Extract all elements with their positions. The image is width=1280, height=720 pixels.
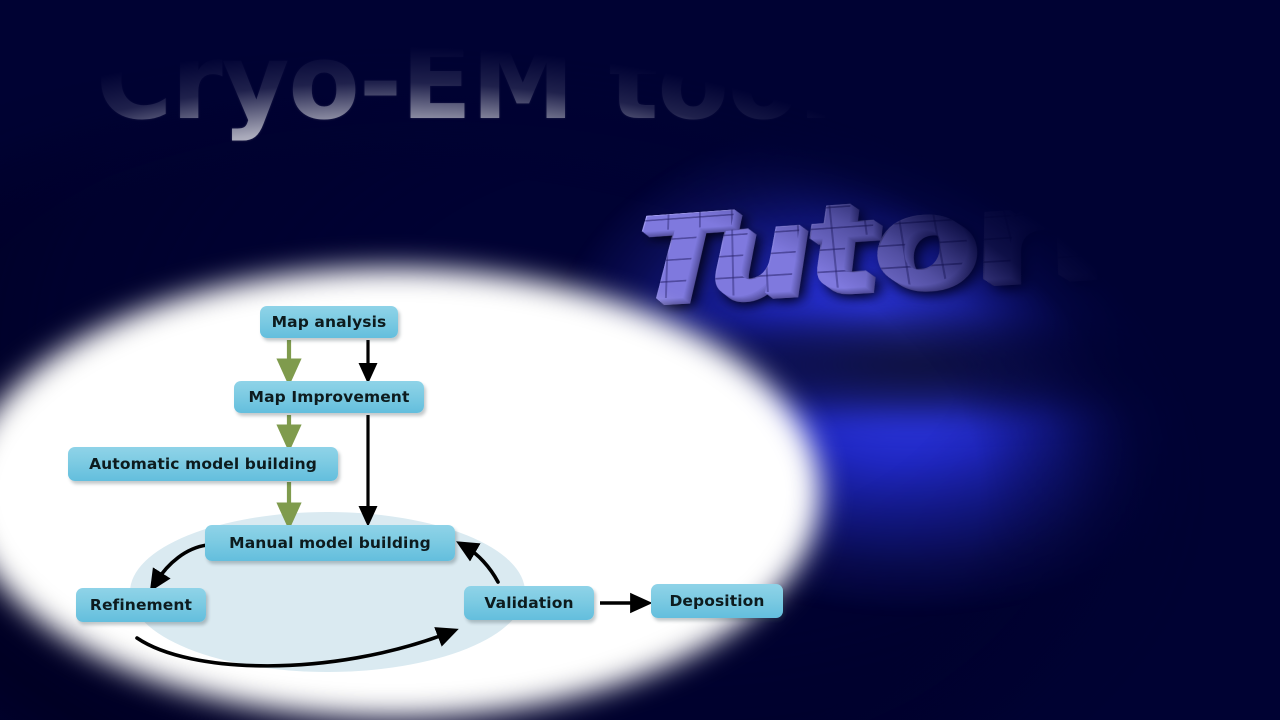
edge-validation-to-manual-build [466, 547, 498, 582]
edge-manual-build-to-refinement [156, 545, 207, 582]
edge-refinement-to-validation [137, 633, 448, 666]
node-deposition[interactable]: Deposition [651, 584, 783, 618]
workflow-arrows [0, 270, 830, 720]
node-map-analysis[interactable]: Map analysis [260, 306, 398, 338]
page-title: Cryo-EM tools [96, 28, 894, 137]
slide-canvas: Tutorial Tutorial Tutorial Tutorial Cryo… [0, 0, 1280, 720]
node-refinement[interactable]: Refinement [76, 588, 206, 622]
node-automatic-model-building[interactable]: Automatic model building [68, 447, 338, 481]
workflow-diagram: Map analysis Map Improvement Automatic m… [0, 270, 830, 720]
node-map-improvement[interactable]: Map Improvement [234, 381, 424, 413]
node-manual-model-building[interactable]: Manual model building [205, 525, 455, 561]
node-validation[interactable]: Validation [464, 586, 594, 620]
